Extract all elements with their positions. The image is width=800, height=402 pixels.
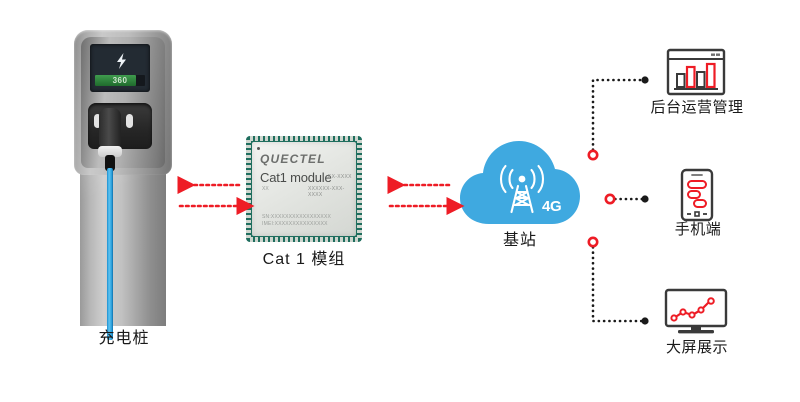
link-endpoint-backend (641, 76, 648, 83)
module-pcb: QUECTEL Cat1 module EX-XXXX XX XXXXXX-XX… (246, 136, 362, 242)
battery-bar-track: 360 (95, 75, 145, 86)
link-pile-module (180, 185, 239, 206)
link-cloud-bigscreen (589, 238, 649, 325)
module-sn-line2: IMEI:XXXXXXXXXXXXXXX (262, 221, 331, 228)
link-cloud-bigscreen-path (593, 242, 645, 321)
link-origin-backend (589, 151, 597, 159)
link-origin-mobile (606, 195, 614, 203)
mobile-label: 手机端 (662, 222, 734, 239)
bigscreen-label: 大屏展示 (645, 340, 749, 357)
module-sub-right-text: XXXXXX-XXX-XXXX (308, 186, 356, 198)
plug-head (99, 108, 121, 150)
browser-bar-chart-icon (666, 48, 726, 101)
plug-prong-right (126, 114, 133, 128)
link-cloud-backend (589, 76, 649, 159)
backend-label: 后台运营管理 (645, 100, 749, 117)
module-brand-logo: QUECTEL (260, 152, 326, 166)
network-type-label: 4G (542, 198, 561, 215)
module-pin1-dot (257, 147, 260, 150)
base-station-label: 基站 (456, 232, 584, 250)
module-title-text: Cat1 module (260, 170, 332, 185)
lightning-bolt-icon (114, 52, 128, 70)
charging-pile-label: 充电桩 (60, 330, 188, 348)
module-sub-left-text: XX (262, 186, 269, 192)
pile-head: 360 (74, 30, 172, 175)
module-code-text: EX-XXXX (328, 174, 352, 180)
module-sn-line1: SN:XXXXXXXXXXXXXXXXX (262, 214, 331, 221)
link-module-cloud (390, 185, 449, 206)
monitor-line-chart-icon (664, 288, 728, 341)
smartphone-icon (680, 168, 714, 227)
link-endpoint-bigscreen (641, 317, 648, 324)
pile-display-screen: 360 (90, 44, 150, 92)
cat1-module-label: Cat 1 模组 (240, 251, 368, 269)
base-station-node: 4G (458, 136, 582, 246)
link-cloud-backend-path (593, 80, 645, 155)
link-endpoint-mobile (641, 195, 648, 202)
module-sn-text: SN:XXXXXXXXXXXXXXXXX IMEI:XXXXXXXXXXXXXX… (262, 214, 331, 228)
module-shield-can: QUECTEL Cat1 module EX-XXXX XX XXXXXX-XX… (252, 142, 356, 236)
battery-value-text: 360 (95, 75, 145, 86)
cat1-module-node: QUECTEL Cat1 module EX-XXXX XX XXXXXX-XX… (246, 136, 362, 246)
link-cloud-mobile (606, 195, 649, 203)
link-origin-bigscreen (589, 238, 597, 246)
charging-pile-node: 360 (68, 18, 180, 318)
diagram-canvas: 360 充电桩 QUECTEL Cat1 module EX-XXXX XX X… (0, 0, 800, 402)
charging-cable (107, 168, 113, 340)
